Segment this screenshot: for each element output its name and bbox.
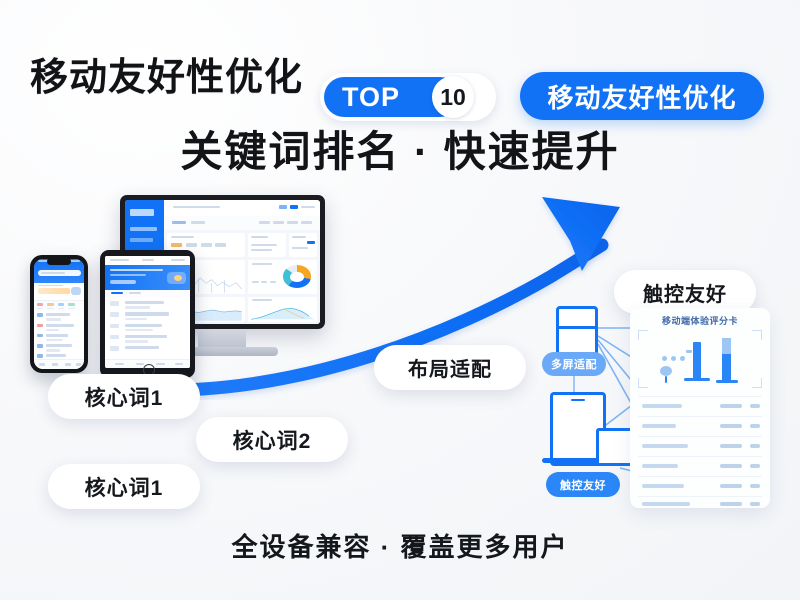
- header-tag-text: 移动友好性优化: [547, 78, 736, 115]
- header-tag-pill: 移动友好性优化: [520, 72, 764, 120]
- header-kicker: 移动友好性优化: [30, 46, 303, 101]
- diagram-pill-top: 多屏适配: [542, 352, 606, 376]
- top-label-text: TOP: [342, 82, 400, 113]
- tablet-device: [100, 250, 195, 378]
- keyword-pill-2[interactable]: 核心词2: [196, 417, 348, 462]
- footer-caption: 全设备兼容 · 覆盖更多用户: [0, 527, 800, 564]
- diagram-pill-bottom: 触控友好: [546, 472, 620, 497]
- phone-notch: [47, 258, 71, 265]
- phone-screen: [34, 259, 84, 369]
- header-row: 移动友好性优化 TOP 10 移动友好性优化: [0, 24, 800, 90]
- tablet-screen: [105, 256, 190, 368]
- phone-device: [30, 255, 88, 373]
- page-title: 关键词排名 · 快速提升: [0, 118, 800, 179]
- top-rank-circle: 10: [432, 76, 474, 118]
- top-rank-text: 10: [440, 84, 466, 111]
- keyword-pill-3[interactable]: 核心词1: [48, 464, 200, 509]
- top-rank-badge: TOP 10: [320, 73, 496, 121]
- keyword-pill-1[interactable]: 核心词1: [48, 374, 200, 419]
- monitor-neck: [198, 329, 246, 349]
- score-card: 移动端体验评分卡: [630, 308, 770, 508]
- dashboard-topbar: [164, 200, 320, 217]
- poster-canvas: 移动友好性优化 TOP 10 移动友好性优化 关键词排名 · 快速提升: [0, 0, 800, 600]
- score-card-title: 移动端体验评分卡: [630, 314, 770, 327]
- mobile-experience-diagram: 多屏适配 触控友好 移动端体验评分卡: [540, 300, 775, 515]
- keyword-pill-layout[interactable]: 布局适配: [374, 345, 526, 390]
- dashboard-subbar: [164, 216, 320, 231]
